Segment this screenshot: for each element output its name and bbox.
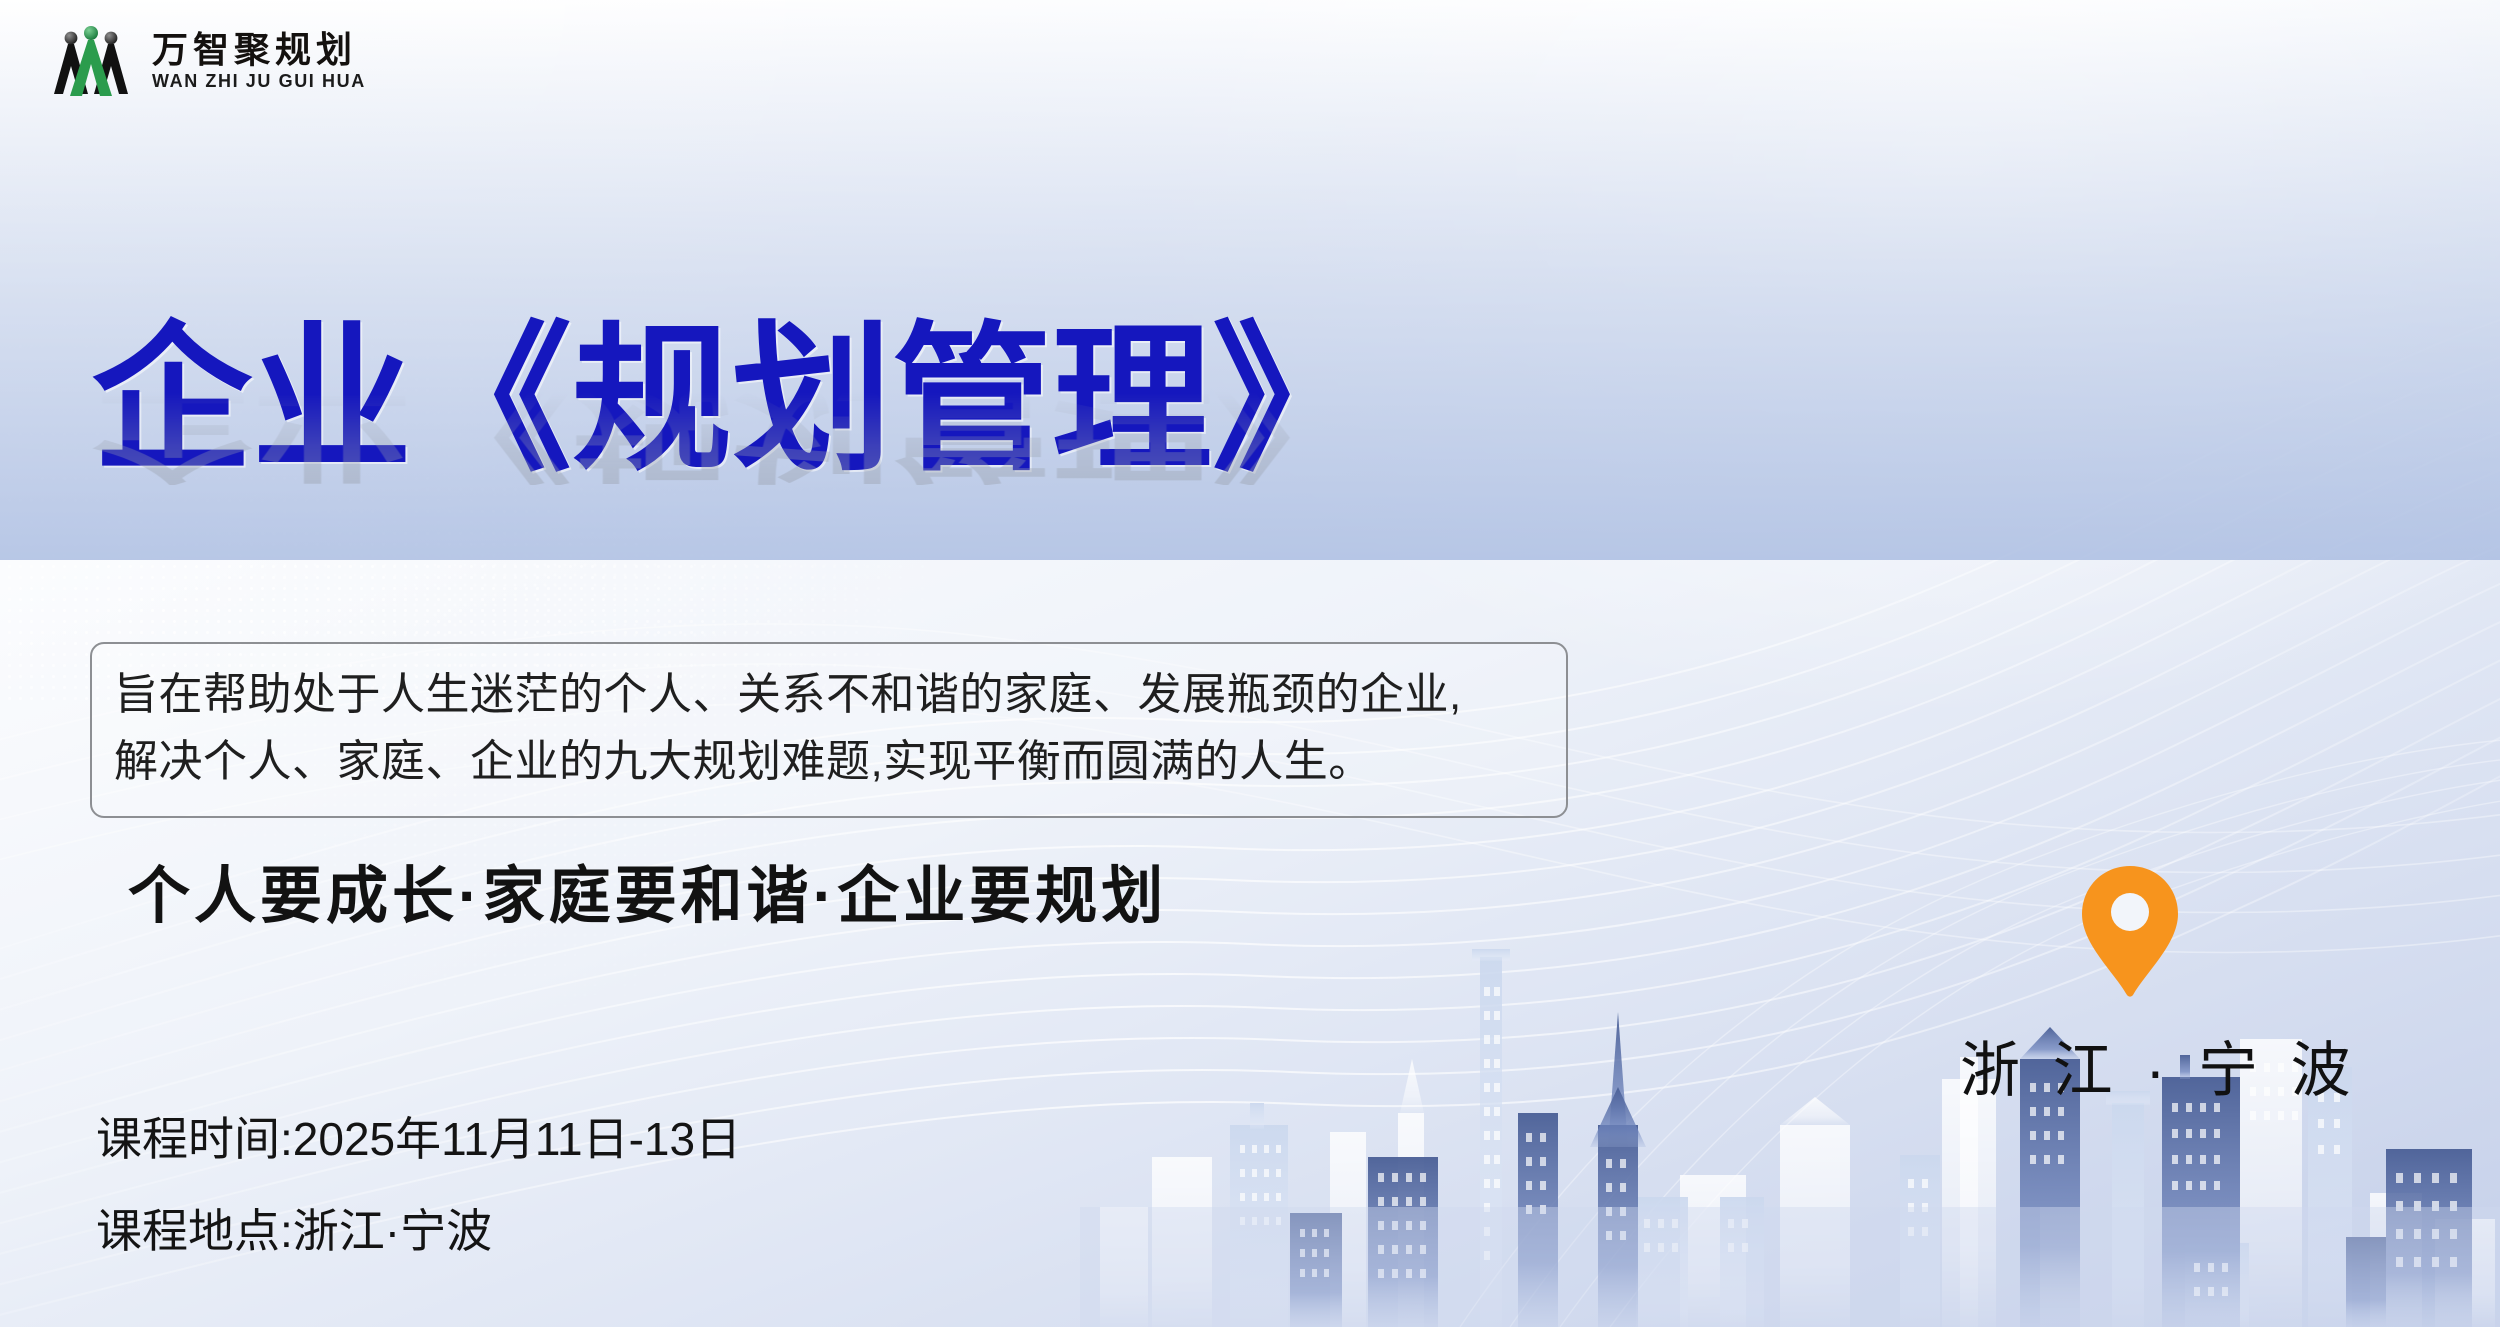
- slogan-text: 个人要成长·家庭要和谐·企业要规划: [128, 845, 1167, 935]
- course-time: 课程时间:2025年11月11日-13日: [96, 1116, 741, 1162]
- course-info-block: 课程时间:2025年11月11日-13日 课程地点:浙江·宁波: [96, 1116, 741, 1254]
- hero-title-block: 企业《规划管理》 企业《规划管理》: [92, 318, 1612, 648]
- map-pin-icon: [2076, 862, 2184, 1002]
- brand-name-cn: 万智聚规划: [152, 32, 366, 70]
- course-place: 课程地点:浙江·宁波: [96, 1208, 741, 1254]
- description-line-1: 旨在帮助处于人生迷茫的个人、关系不和谐的家庭、发展瓶颈的企业,: [114, 662, 1542, 729]
- location-badge: 浙 江 · 宁 波: [1960, 862, 2300, 1109]
- poster-canvas: 万智聚规划 WAN ZHI JU GUI HUA 企业《规划管理》 企业《规划管…: [0, 0, 2500, 1327]
- description-line-2: 解决个人、家庭、企业的九大规划难题,实现平衡而圆满的人生。: [114, 729, 1542, 796]
- location-label: 浙 江 · 宁 波: [1960, 1022, 2300, 1109]
- three-people-logo-icon: [48, 22, 134, 100]
- brand-logo: 万智聚规划 WAN ZHI JU GUI HUA: [48, 22, 366, 100]
- description-box: 旨在帮助处于人生迷茫的个人、关系不和谐的家庭、发展瓶颈的企业, 解决个人、家庭、…: [90, 642, 1568, 818]
- page-title-reflection: 企业《规划管理》: [92, 384, 1612, 485]
- brand-text-block: 万智聚规划 WAN ZHI JU GUI HUA: [152, 32, 366, 90]
- brand-name-en: WAN ZHI JU GUI HUA: [152, 72, 366, 90]
